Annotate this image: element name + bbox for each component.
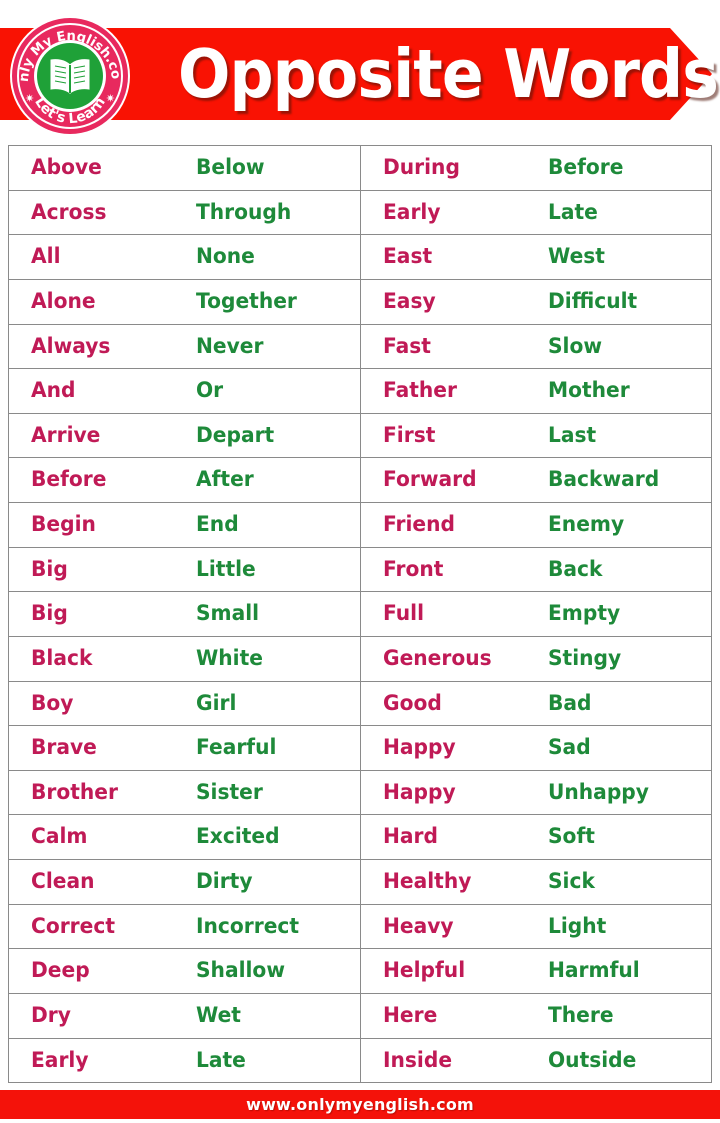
opposite-label: Empty [548,603,620,625]
table-row: BeforeAfter [9,458,360,503]
table-row: CorrectIncorrect [9,905,360,950]
opposite-label: Late [196,1050,246,1072]
table-row: HappySad [361,726,711,771]
word-label: Easy [383,291,538,313]
logo-star-left-icon: ✷ [25,94,34,105]
opposite-label: Excited [196,826,280,848]
table-row: AlwaysNever [9,325,360,370]
opposite-label: Enemy [548,514,624,536]
table-row: HappyUnhappy [361,771,711,816]
table-row: EasyDifficult [361,280,711,325]
word-label: Above [31,157,186,179]
opposite-label: Sad [548,737,591,759]
opposite-label: Little [196,559,256,581]
table-row: ForwardBackward [361,458,711,503]
word-label: Happy [383,737,538,759]
opposite-label: West [548,246,605,268]
word-label: Always [31,336,186,358]
word-label: Early [383,202,538,224]
table-column-right: DuringBeforeEarlyLateEastWestEasyDifficu… [360,146,711,1082]
opposite-label: Harmful [548,960,640,982]
word-label: Alone [31,291,186,313]
table-row: InsideOutside [361,1039,711,1083]
word-label: Friend [383,514,538,536]
word-label: Arrive [31,425,186,447]
opposite-label: Girl [196,693,236,715]
word-label: Dry [31,1005,186,1027]
open-book-icon [47,57,93,95]
footer-url: www.onlymyenglish.com [246,1095,474,1114]
word-label: During [383,157,538,179]
opposite-label: Sister [196,782,263,804]
opposite-label: Late [548,202,598,224]
word-label: Forward [383,469,538,491]
table-row: DuringBefore [361,146,711,191]
opposite-label: Below [196,157,265,179]
table-row: AllNone [9,235,360,280]
table-row: EastWest [361,235,711,280]
onlymyenglish-logo: Only My English.com Let's Learn ✷ ✷ [12,18,128,134]
opposite-label: Bad [548,693,592,715]
table-row: EarlyLate [361,191,711,236]
page-header: Opposite Words Only My English.com Let's… [0,0,720,140]
word-label: Early [31,1050,186,1072]
word-label: Correct [31,916,186,938]
page-title: Opposite Words [178,28,638,120]
opposite-label: Before [548,157,623,179]
table-row: AloneTogether [9,280,360,325]
opposite-label: Unhappy [548,782,649,804]
table-row: FrontBack [361,548,711,593]
opposite-label: Never [196,336,263,358]
opposite-label: Or [196,380,223,402]
opposite-label: Last [548,425,596,447]
word-label: Happy [383,782,538,804]
table-column-left: AboveBelowAcrossThroughAllNoneAloneToget… [9,146,360,1082]
table-row: FullEmpty [361,592,711,637]
word-label: All [31,246,186,268]
word-label: Boy [31,693,186,715]
word-label: First [383,425,538,447]
opposite-label: None [196,246,255,268]
word-label: Helpful [383,960,538,982]
word-label: Front [383,559,538,581]
table-row: FirstLast [361,414,711,459]
table-row: FastSlow [361,325,711,370]
opposite-label: End [196,514,239,536]
word-label: Hard [383,826,538,848]
opposite-label: Mother [548,380,630,402]
table-row: BrotherSister [9,771,360,816]
word-label: Before [31,469,186,491]
table-row: ArriveDepart [9,414,360,459]
table-row: BlackWhite [9,637,360,682]
word-label: Full [383,603,538,625]
opposite-label: Backward [548,469,659,491]
table-row: HealthySick [361,860,711,905]
table-row: HardSoft [361,815,711,860]
table-row: EarlyLate [9,1039,360,1083]
table-row: AboveBelow [9,146,360,191]
table-row: BigSmall [9,592,360,637]
word-label: Here [383,1005,538,1027]
opposite-label: Together [196,291,297,313]
opposite-label: Shallow [196,960,285,982]
opposite-label: Difficult [548,291,637,313]
opposite-label: Through [196,202,291,224]
word-label: And [31,380,186,402]
opposite-label: There [548,1005,614,1027]
table-row: CalmExcited [9,815,360,860]
table-row: DeepShallow [9,949,360,994]
word-label: Calm [31,826,186,848]
table-row: BigLittle [9,548,360,593]
table-row: AndOr [9,369,360,414]
opposite-label: Sick [548,871,595,893]
word-label: Begin [31,514,186,536]
word-label: Brave [31,737,186,759]
table-row: FriendEnemy [361,503,711,548]
word-label: Big [31,603,186,625]
word-label: Across [31,202,186,224]
word-label: East [383,246,538,268]
opposite-label: Stingy [548,648,621,670]
word-label: Deep [31,960,186,982]
table-row: DryWet [9,994,360,1039]
table-row: GoodBad [361,682,711,727]
word-label: Inside [383,1050,538,1072]
opposite-label: White [196,648,263,670]
word-label: Father [383,380,538,402]
table-row: HeavyLight [361,905,711,950]
opposite-label: Outside [548,1050,636,1072]
table-row: BeginEnd [9,503,360,548]
opposite-label: Wet [196,1005,241,1027]
table-row: CleanDirty [9,860,360,905]
opposite-label: Soft [548,826,595,848]
table-row: GenerousStingy [361,637,711,682]
opposite-label: Incorrect [196,916,299,938]
opposite-label: Small [196,603,259,625]
word-label: Heavy [383,916,538,938]
opposite-label: Depart [196,425,274,447]
word-label: Generous [383,648,538,670]
word-label: Fast [383,336,538,358]
table-row: BoyGirl [9,682,360,727]
word-label: Clean [31,871,186,893]
opposite-label: Dirty [196,871,253,893]
logo-star-right-icon: ✷ [106,94,115,105]
table-row: AcrossThrough [9,191,360,236]
opposite-label: Light [548,916,606,938]
opposite-words-table: AboveBelowAcrossThroughAllNoneAloneToget… [8,145,712,1083]
word-label: Big [31,559,186,581]
opposite-label: Fearful [196,737,276,759]
opposite-label: Back [548,559,602,581]
logo-inner-circle [37,43,103,109]
word-label: Good [383,693,538,715]
site-footer: www.onlymyenglish.com [0,1090,720,1119]
table-row: FatherMother [361,369,711,414]
table-row: HelpfulHarmful [361,949,711,994]
opposite-label: Slow [548,336,602,358]
opposite-label: After [196,469,254,491]
table-row: HereThere [361,994,711,1039]
word-label: Brother [31,782,186,804]
table-row: BraveFearful [9,726,360,771]
word-label: Black [31,648,186,670]
word-label: Healthy [383,871,538,893]
